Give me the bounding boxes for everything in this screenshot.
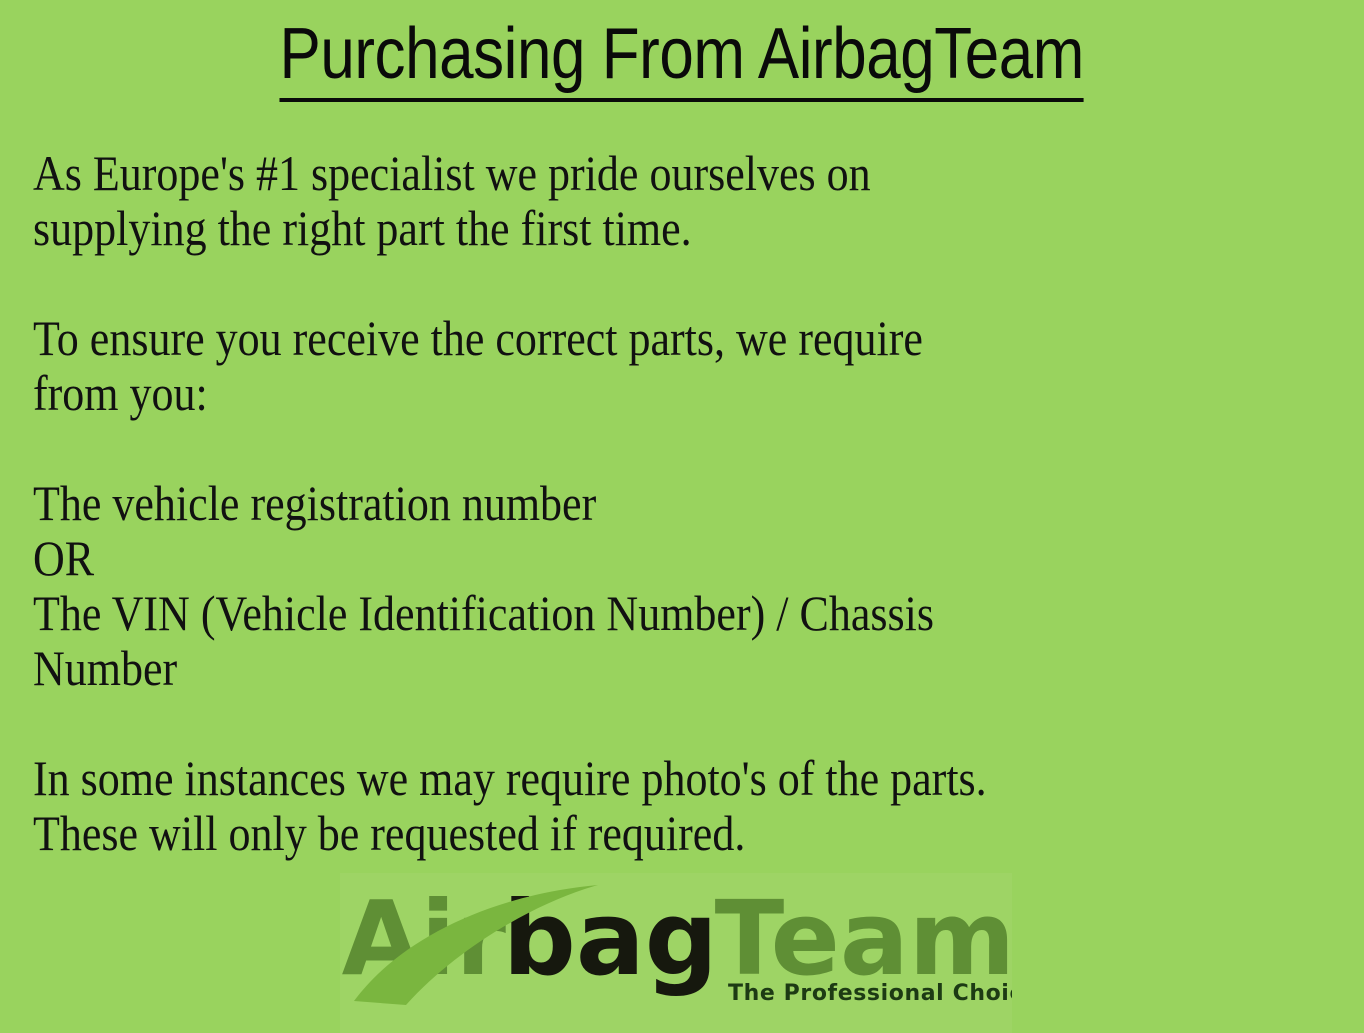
- paragraph-requirement-intro: To ensure you receive the correct parts,…: [33, 311, 1195, 421]
- slide-canvas: Purchasing From AirbagTeam As Europe's #…: [0, 0, 1364, 1033]
- paragraph-spacer: [33, 256, 1353, 311]
- text-line: As Europe's #1 specialist we pride ourse…: [33, 146, 1195, 201]
- paragraph-requirements-list: The vehicle registration number OR The V…: [33, 476, 1195, 696]
- text-line: In some instances we may require photo's…: [33, 751, 1195, 806]
- paragraph-photos-note: In some instances we may require photo's…: [33, 751, 1195, 861]
- text-line: OR: [33, 531, 1195, 586]
- text-line: The VIN (Vehicle Identification Number) …: [33, 586, 1195, 641]
- body-content: As Europe's #1 specialist we pride ourse…: [33, 146, 1353, 861]
- text-line: These will only be requested if required…: [33, 806, 1195, 861]
- text-line: The vehicle registration number: [33, 476, 1195, 531]
- text-line: Number: [33, 641, 1195, 696]
- page-title: Purchasing From AirbagTeam: [0, 14, 1364, 102]
- page-title-text: Purchasing From AirbagTeam: [280, 14, 1084, 102]
- paragraph-spacer: [33, 696, 1353, 751]
- text-line: To ensure you receive the correct parts,…: [33, 311, 1195, 366]
- logo-text-bag: bag: [503, 880, 718, 999]
- text-line: supplying the right part the first time.: [33, 201, 1195, 256]
- paragraph-spacer: [33, 421, 1353, 476]
- paragraph-intro: As Europe's #1 specialist we pride ourse…: [33, 146, 1195, 256]
- airbagteam-logo: Air bag Team The Professional Choice: [340, 873, 1012, 1033]
- text-line: from you:: [33, 366, 1195, 421]
- logo-tagline: The Professional Choice: [728, 981, 1012, 1006]
- logo-text-air: Air: [342, 880, 507, 999]
